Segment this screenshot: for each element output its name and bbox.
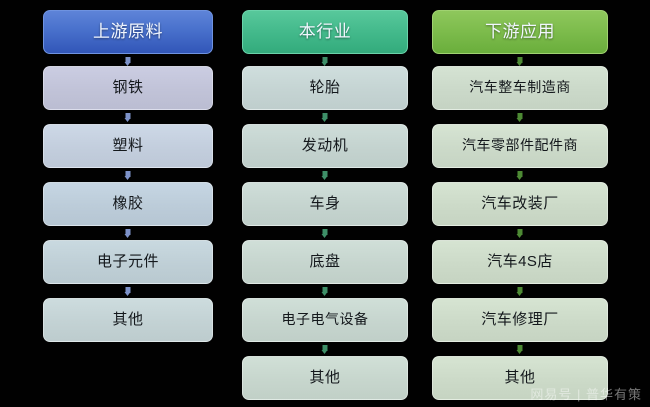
column-header-downstream[interactable]: 下游应用 bbox=[432, 10, 608, 54]
arrow-head bbox=[125, 176, 131, 180]
node-label: 轮胎 bbox=[309, 80, 340, 97]
arrow-down-icon bbox=[322, 171, 329, 180]
node-label: 其他 bbox=[112, 312, 143, 329]
arrow-down-icon bbox=[517, 113, 524, 122]
arrow-down-icon bbox=[517, 287, 524, 296]
arrow-down-icon bbox=[517, 345, 524, 354]
arrow-head bbox=[322, 234, 328, 238]
arrow-head bbox=[517, 118, 523, 122]
arrow-down-icon bbox=[322, 287, 329, 296]
arrow-down-icon bbox=[517, 57, 524, 66]
column-header-label: 上游原料 bbox=[93, 23, 163, 42]
node-label: 汽车整车制造商 bbox=[469, 80, 571, 95]
node-label: 汽车修理厂 bbox=[481, 312, 559, 329]
node-label: 电子电气设备 bbox=[282, 312, 369, 327]
node-label: 车身 bbox=[309, 196, 340, 213]
node-label: 底盘 bbox=[309, 254, 340, 271]
node-label: 汽车零部件配件商 bbox=[462, 138, 578, 153]
node-label: 其他 bbox=[504, 370, 535, 387]
node-industry-0[interactable]: 轮胎 bbox=[242, 66, 408, 110]
column-industry: 本行业轮胎发动机车身底盘电子电气设备其他 bbox=[242, 0, 408, 407]
arrow-head bbox=[322, 176, 328, 180]
arrow-head bbox=[125, 118, 131, 122]
arrow-head bbox=[517, 176, 523, 180]
arrow-down-icon bbox=[322, 113, 329, 122]
arrow-down-icon bbox=[517, 171, 524, 180]
arrow-down-icon bbox=[322, 57, 329, 66]
arrow-down-icon bbox=[125, 229, 132, 238]
node-industry-5[interactable]: 其他 bbox=[242, 356, 408, 400]
column-upstream: 上游原料钢铁塑料橡胶电子元件其他 bbox=[43, 0, 213, 407]
node-label: 电子元件 bbox=[97, 254, 159, 271]
node-downstream-4[interactable]: 汽车修理厂 bbox=[432, 298, 608, 342]
node-label: 橡胶 bbox=[112, 196, 143, 213]
node-label: 汽车4S店 bbox=[487, 254, 553, 271]
node-downstream-3[interactable]: 汽车4S店 bbox=[432, 240, 608, 284]
node-label: 塑料 bbox=[112, 138, 143, 155]
node-label: 钢铁 bbox=[112, 80, 143, 97]
node-upstream-4[interactable]: 其他 bbox=[43, 298, 213, 342]
arrow-down-icon bbox=[125, 171, 132, 180]
node-industry-3[interactable]: 底盘 bbox=[242, 240, 408, 284]
column-header-label: 下游应用 bbox=[485, 23, 555, 42]
column-header-industry[interactable]: 本行业 bbox=[242, 10, 408, 54]
arrow-down-icon bbox=[125, 287, 132, 296]
node-upstream-2[interactable]: 橡胶 bbox=[43, 182, 213, 226]
node-downstream-2[interactable]: 汽车改装厂 bbox=[432, 182, 608, 226]
arrow-head bbox=[322, 292, 328, 296]
column-header-upstream[interactable]: 上游原料 bbox=[43, 10, 213, 54]
node-industry-2[interactable]: 车身 bbox=[242, 182, 408, 226]
node-industry-4[interactable]: 电子电气设备 bbox=[242, 298, 408, 342]
node-downstream-0[interactable]: 汽车整车制造商 bbox=[432, 66, 608, 110]
arrow-head bbox=[517, 292, 523, 296]
arrow-down-icon bbox=[125, 113, 132, 122]
arrow-head bbox=[125, 292, 131, 296]
node-label: 其他 bbox=[309, 370, 340, 387]
arrow-head bbox=[517, 350, 523, 354]
node-downstream-1[interactable]: 汽车零部件配件商 bbox=[432, 124, 608, 168]
arrow-head bbox=[322, 118, 328, 122]
arrow-down-icon bbox=[125, 57, 132, 66]
column-header-label: 本行业 bbox=[299, 23, 352, 42]
node-upstream-3[interactable]: 电子元件 bbox=[43, 240, 213, 284]
node-upstream-1[interactable]: 塑料 bbox=[43, 124, 213, 168]
node-industry-1[interactable]: 发动机 bbox=[242, 124, 408, 168]
arrow-head bbox=[125, 234, 131, 238]
arrow-head bbox=[517, 234, 523, 238]
node-label: 发动机 bbox=[302, 138, 349, 155]
node-upstream-0[interactable]: 钢铁 bbox=[43, 66, 213, 110]
arrow-down-icon bbox=[322, 229, 329, 238]
arrow-down-icon bbox=[517, 229, 524, 238]
arrow-head bbox=[322, 350, 328, 354]
node-downstream-5[interactable]: 其他 bbox=[432, 356, 608, 400]
node-label: 汽车改装厂 bbox=[481, 196, 559, 213]
industry-chain-diagram: 上游原料钢铁塑料橡胶电子元件其他本行业轮胎发动机车身底盘电子电气设备其他下游应用… bbox=[0, 0, 650, 407]
arrow-down-icon bbox=[322, 345, 329, 354]
column-downstream: 下游应用汽车整车制造商汽车零部件配件商汽车改装厂汽车4S店汽车修理厂其他 bbox=[432, 0, 608, 407]
